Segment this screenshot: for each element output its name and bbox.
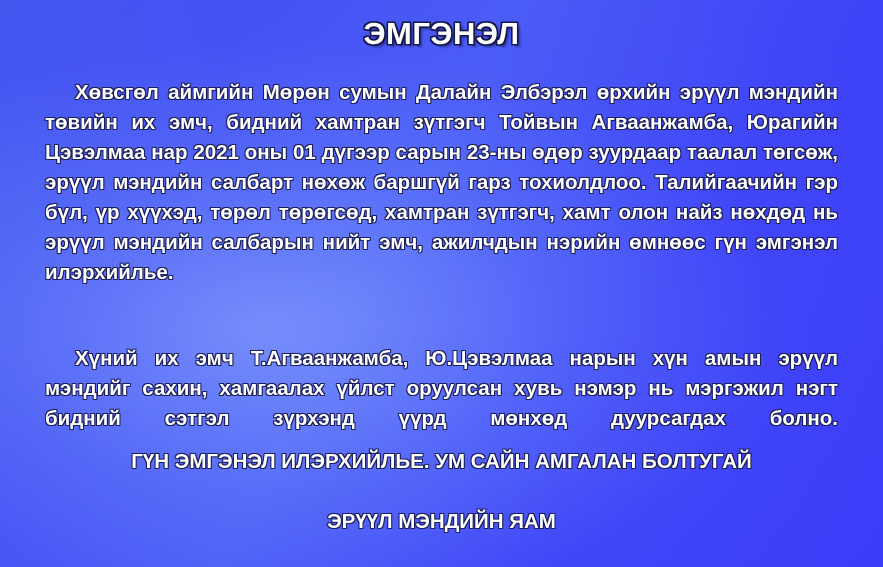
notice-paragraph-1: Хөвсгөл аймгийн Мөрөн сумын Далайн Элбэр… xyxy=(45,78,838,318)
notice-paragraph-2: Хүний их эмч Т.Агваанжамба, Ю.Цэвэлмаа н… xyxy=(45,344,838,464)
notice-signature: ЭРҮҮЛ МЭНДИЙН ЯАМ xyxy=(0,508,883,536)
condolence-notice-card: ЭМГЭНЭЛ Хөвсгөл аймгийн Мөрөн сумын Дала… xyxy=(0,0,883,567)
notice-body: Хөвсгөл аймгийн Мөрөн сумын Далайн Элбэр… xyxy=(45,78,838,464)
notice-closing-line: ГҮН ЭМГЭНЭЛ ИЛЭРХИЙЛЬЕ. УМ САЙН АМГАЛАН … xyxy=(0,448,883,476)
notice-closing-block: ГҮН ЭМГЭНЭЛ ИЛЭРХИЙЛЬЕ. УМ САЙН АМГАЛАН … xyxy=(0,448,883,476)
paragraph-spacer xyxy=(45,318,838,344)
notice-title: ЭМГЭНЭЛ xyxy=(0,16,883,52)
